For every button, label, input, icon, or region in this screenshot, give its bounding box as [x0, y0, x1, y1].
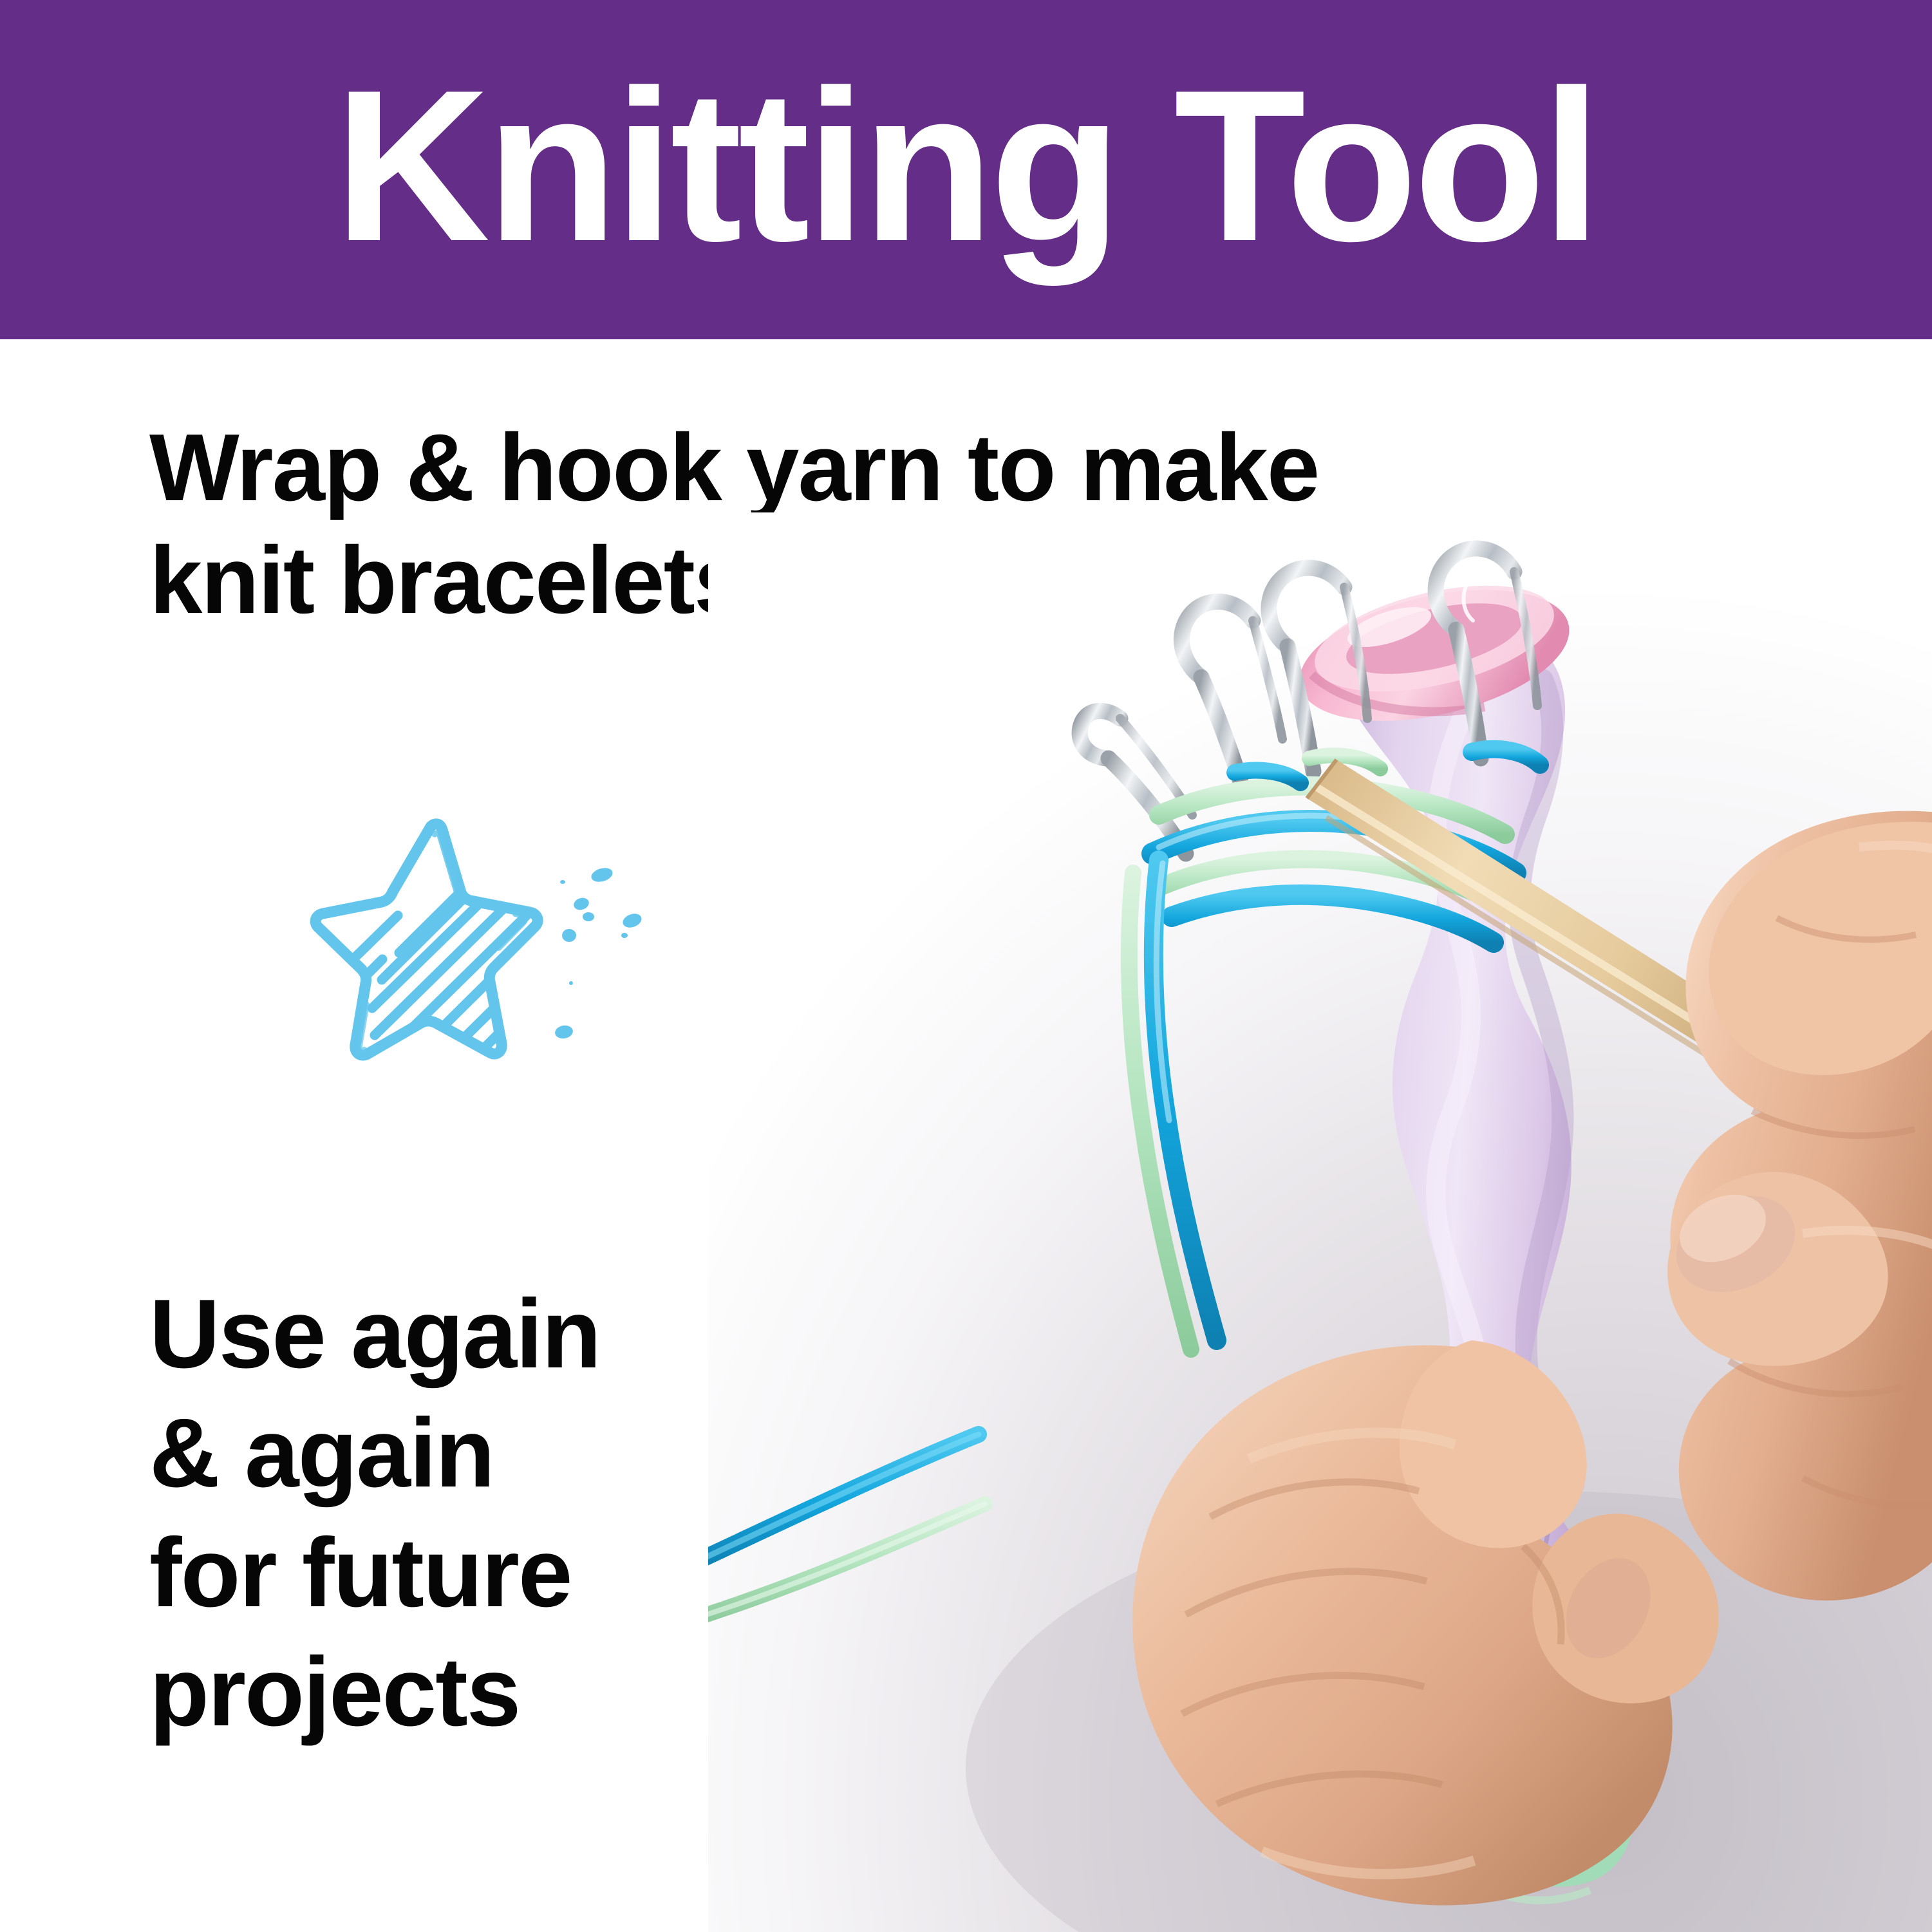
- header-banner: Knitting Tool: [0, 0, 1932, 339]
- product-feature-card: Knitting Tool Wrap & hook yarn to make k…: [0, 0, 1932, 1932]
- star-splatter-dots: [554, 866, 643, 1040]
- page-title: Knitting Tool: [334, 63, 1597, 268]
- headline-line-1: Wrap & hook yarn to make: [149, 412, 1694, 525]
- product-photo: [708, 512, 1932, 1932]
- product-photo-illustration: [708, 512, 1932, 1932]
- hand-drawn-star-icon: [303, 818, 663, 1127]
- right-hand: [1661, 811, 1932, 1600]
